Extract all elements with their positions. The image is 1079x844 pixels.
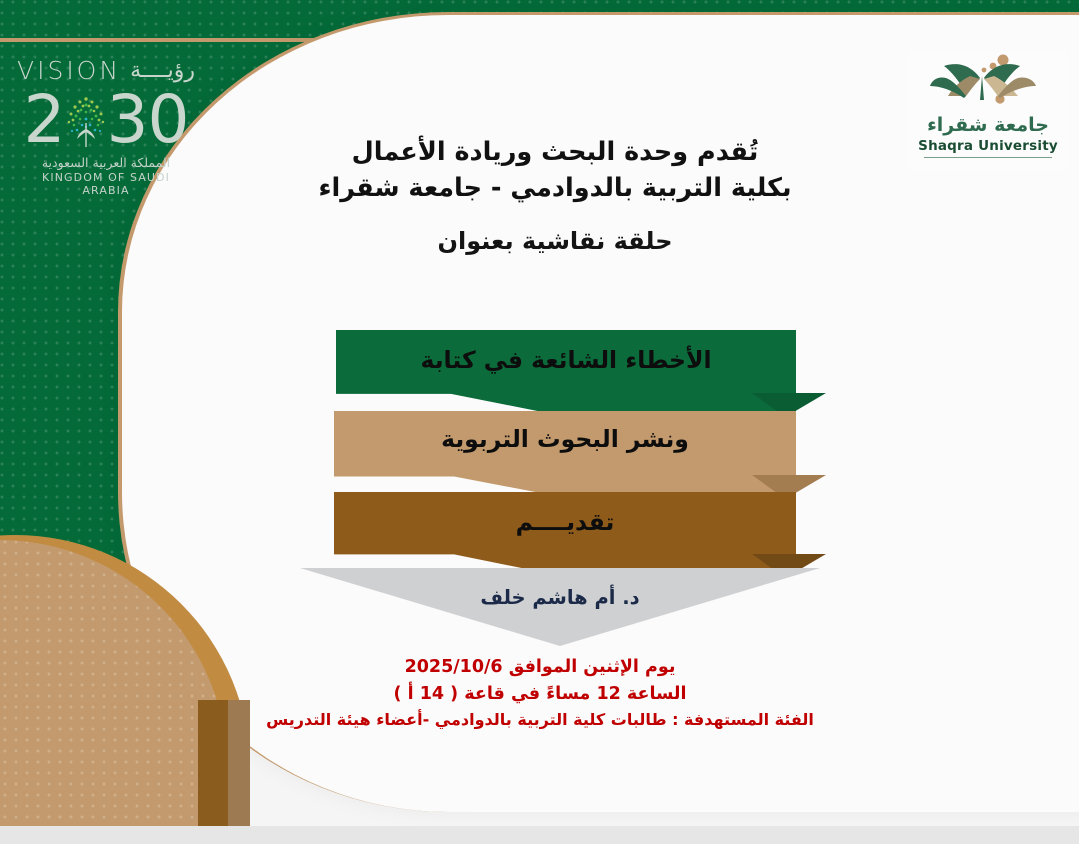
vision-logo-digit-left: 2 xyxy=(24,87,65,153)
vision-logo-word-ar: رؤيــــة xyxy=(130,60,195,82)
chevron-presenter-name: د. أم هاشم خلف xyxy=(300,568,820,646)
event-details-block: يوم الإثنين الموافق 2025/10/6 الساعة 12 … xyxy=(230,654,850,733)
heading-line-1: تُقدم وحدة البحث وريادة الأعمال xyxy=(240,134,870,170)
event-date-line: يوم الإثنين الموافق 2025/10/6 xyxy=(230,654,850,681)
vision-logo-digit-right: 30 xyxy=(107,87,189,153)
ribbon-title-part-2: ونشر البحوث التربوية xyxy=(334,411,796,495)
vision-2030-logo: VISION رؤيــــة 2 xyxy=(22,58,190,197)
ribbon-label-title-part-1: الأخطاء الشائعة في كتابة xyxy=(336,346,796,374)
palm-burst-icon xyxy=(63,89,109,151)
event-audience-line: الفئة المستهدفة : طالبات كلية التربية با… xyxy=(230,708,850,733)
shaqra-logo-name-en: Shaqra University xyxy=(908,138,1068,154)
presenter-name-label: د. أم هاشم خلف xyxy=(300,586,820,609)
shaqra-logo-underline xyxy=(924,157,1052,158)
ribbon-shape-tan xyxy=(334,411,796,495)
ribbon-presenter-label: تقديــــم xyxy=(334,492,796,574)
event-time-venue-line: الساعة 12 مساءً في قاعة ( 14 أ ) xyxy=(230,681,850,708)
ribbon-title-part-1: الأخطاء الشائعة في كتابة xyxy=(336,330,796,413)
poster-canvas: VISION رؤيــــة 2 xyxy=(0,0,1079,844)
vision-logo-word-en: VISION xyxy=(17,58,121,83)
ribbon-label-presenter: تقديــــم xyxy=(334,508,796,536)
bottom-gray-strip xyxy=(0,826,1079,844)
shaqra-logo-name-ar: جامعة شقراء xyxy=(908,116,1068,135)
brown-accent-sliver xyxy=(198,700,228,826)
tan-circle-decoration xyxy=(0,540,227,844)
ribbon-stack: الأخطاء الشائعة في كتابة ونشر البحوث الت… xyxy=(300,330,820,646)
ribbon-label-title-part-2: ونشر البحوث التربوية xyxy=(334,425,796,453)
open-book-icon xyxy=(908,52,1068,114)
vision-logo-subtitle-en: KINGDOM OF SAUDI ARABIA xyxy=(22,171,190,197)
heading-block: تُقدم وحدة البحث وريادة الأعمال بكلية ال… xyxy=(240,134,870,258)
shaqra-university-logo: جامعة شقراء Shaqra University xyxy=(908,52,1068,170)
heading-line-3: حلقة نقاشية بعنوان xyxy=(240,226,870,257)
heading-line-2: بكلية التربية بالدوادمي - جامعة شقراء xyxy=(240,170,870,206)
